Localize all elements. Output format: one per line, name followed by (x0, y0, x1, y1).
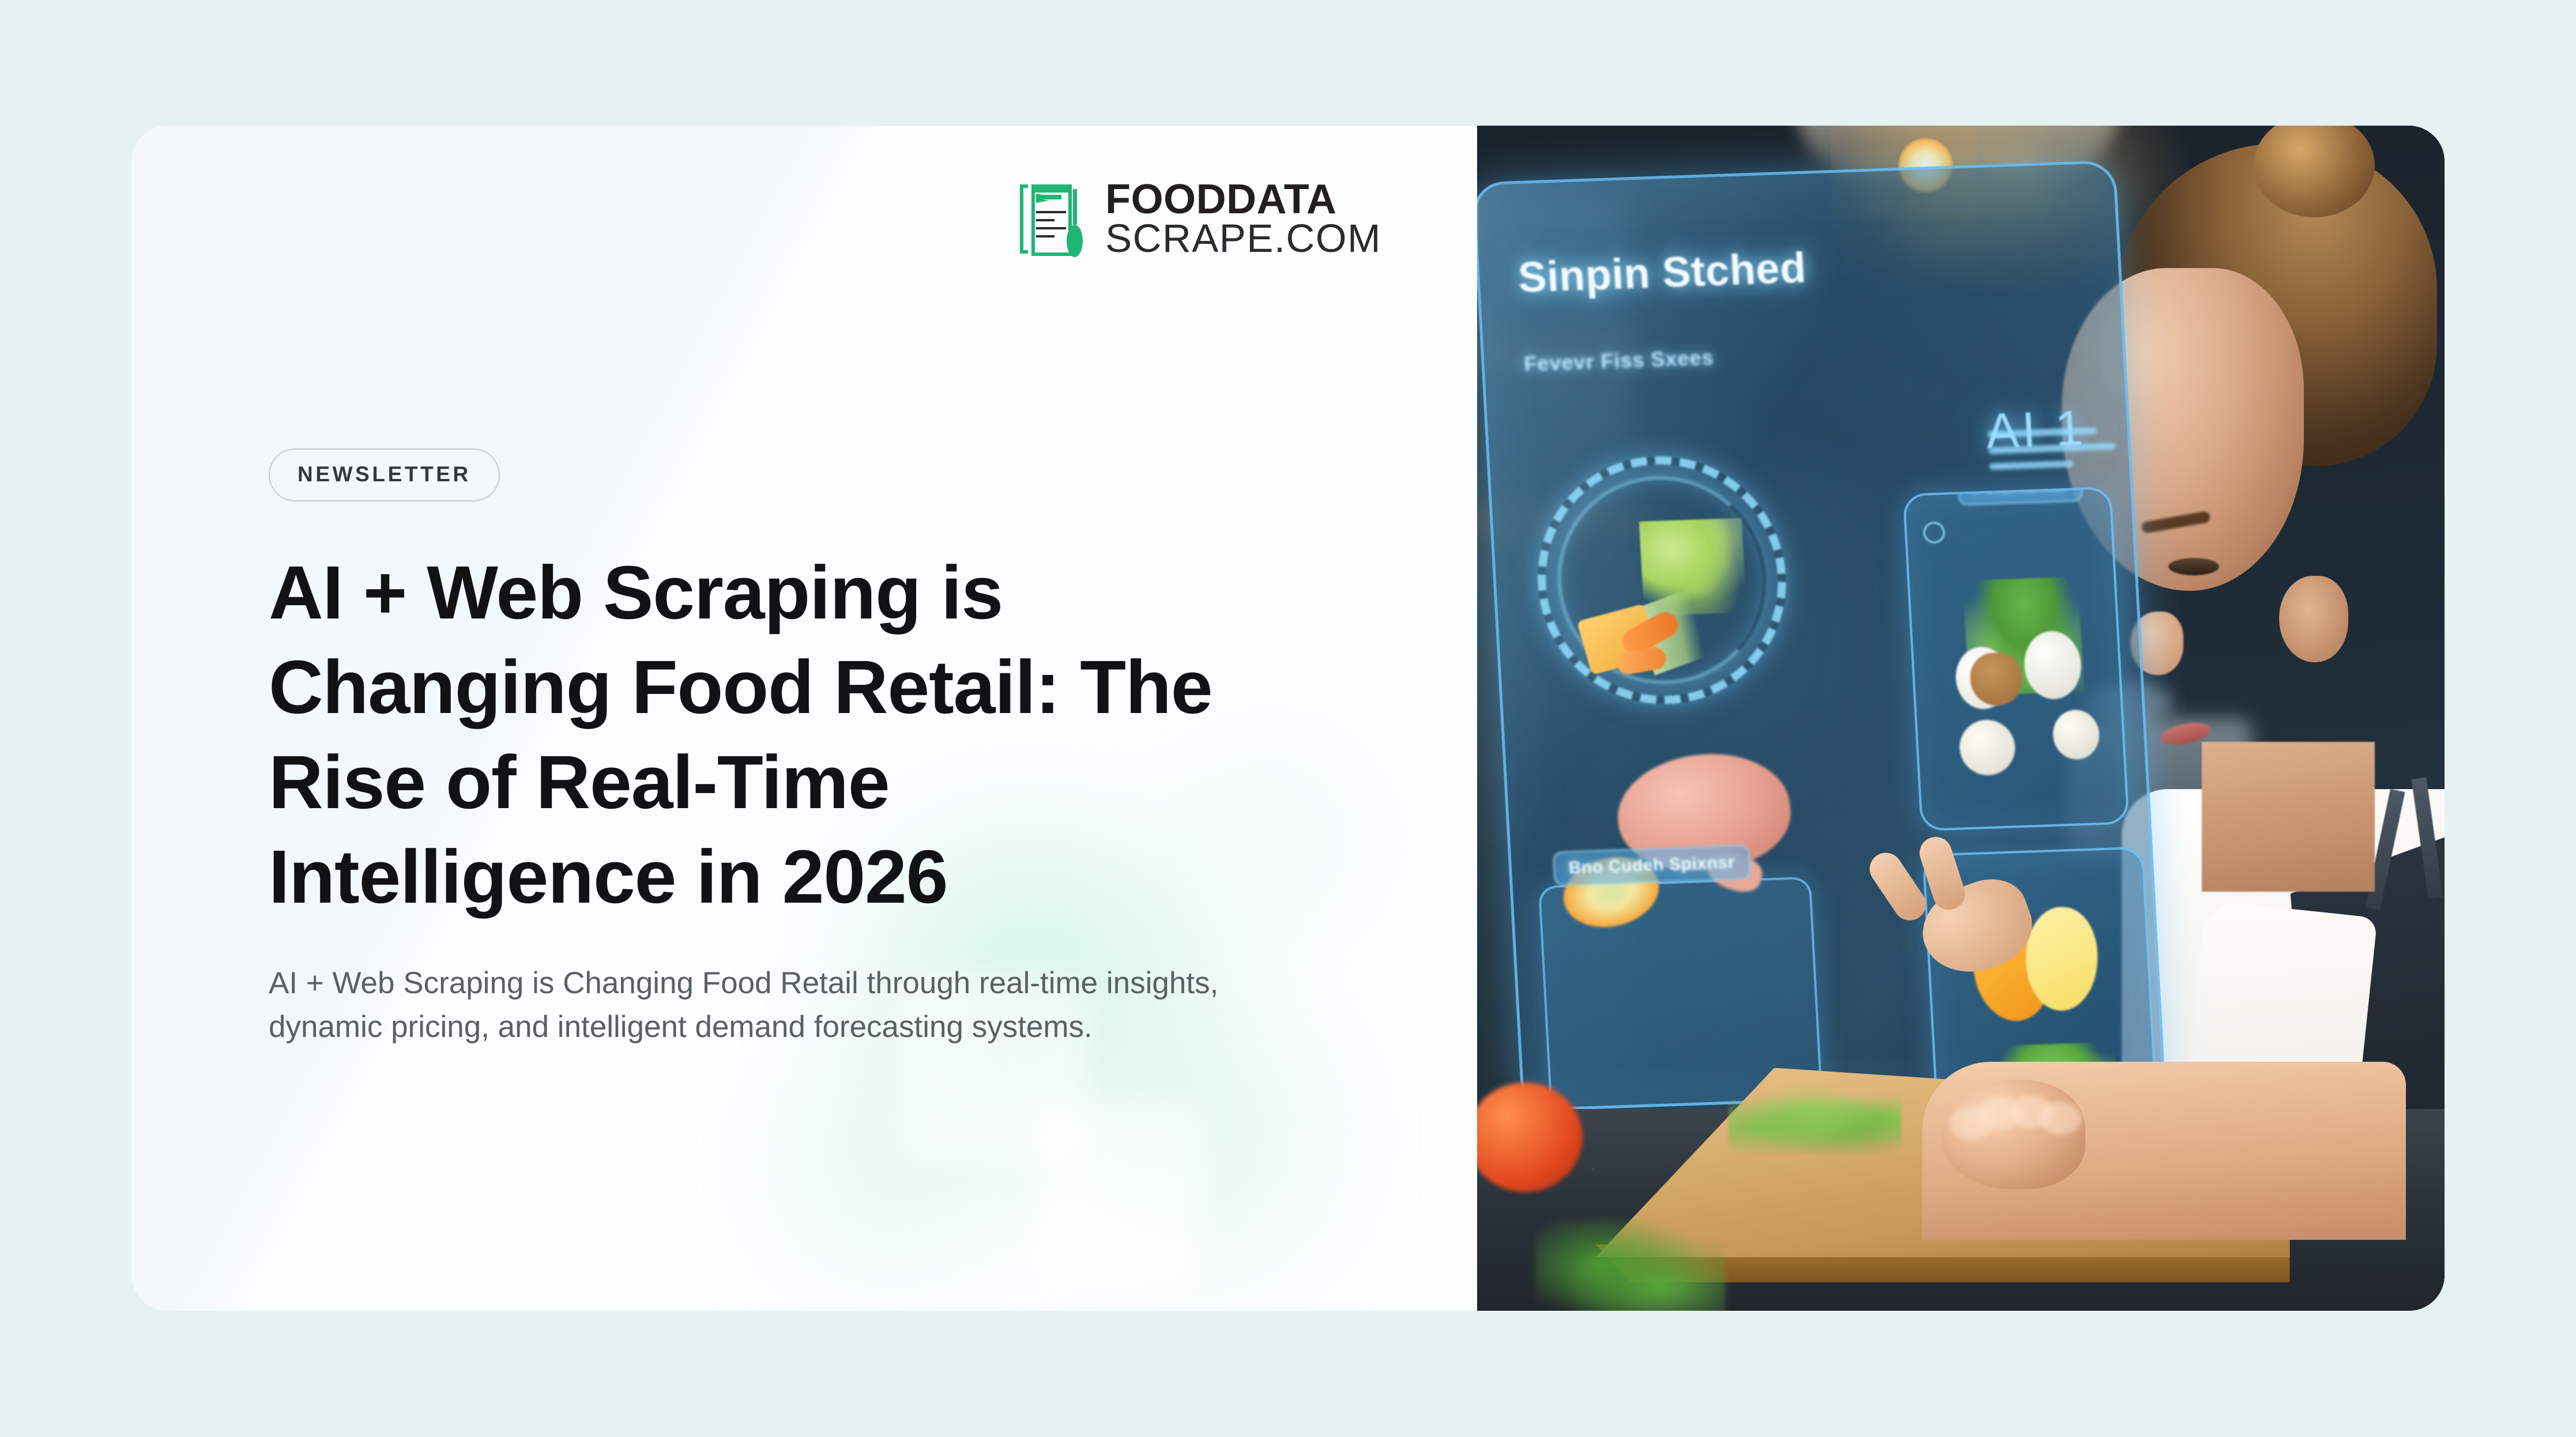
subcard-pill-label: Bno Cudeh Spixnsr (1552, 845, 1752, 887)
chopped-herbs (1728, 1085, 1901, 1155)
knuckle (2039, 1102, 2082, 1135)
logo-text-line1: FOODDATA (1105, 180, 1381, 220)
newsletter-card: FOODDATA SCRAPE.COM NEWSLETTER AI + Web … (131, 126, 2445, 1311)
chef-neck (2202, 742, 2375, 892)
holo-subcard-produce-1[interactable]: Fofariaritai Isnu Mremt Sra Sharmns (1902, 487, 2129, 831)
category-badge[interactable]: NEWSLETTER (269, 448, 500, 501)
parsley-foreground (1535, 1219, 1726, 1311)
meta-line (1989, 461, 2073, 470)
holographic-panel[interactable]: Sinpin Stched Fevevr Fiss Sxees AI 1 (1477, 160, 2166, 1111)
brand-logo[interactable]: FOODDATA SCRAPE.COM (1016, 180, 1381, 258)
page-title: AI + Web Scraping is Changing Food Retai… (269, 545, 1260, 925)
meta-line (1989, 443, 2116, 454)
ai-meta-lines (1987, 427, 2116, 480)
glow-square-2 (1031, 1100, 1204, 1290)
mozzarella-produce (2051, 710, 2100, 761)
progress-ring-widget[interactable] (1531, 452, 1792, 708)
left-content-panel: FOODDATA SCRAPE.COM NEWSLETTER AI + Web … (131, 126, 1477, 1311)
clipboard-fork-spoon-icon (1016, 181, 1090, 257)
chef-ear (2279, 576, 2348, 662)
content-column: NEWSLETTER AI + Web Scraping is Changing… (269, 448, 1283, 1050)
page-subtitle: AI + Web Scraping is Changing Food Retai… (269, 961, 1243, 1050)
hero-image: Sinpin Stched Fevevr Fiss Sxees AI 1 (1477, 126, 2445, 1311)
logo-text-line2: SCRAPE.COM (1105, 220, 1381, 258)
holo-panel-title: Sinpin Stched (1516, 243, 1807, 302)
camera-dot-icon (1922, 522, 1945, 544)
chef-hand-fist (1941, 1080, 2085, 1189)
mint-glow-3 (743, 1025, 1042, 1302)
mozzarella-produce (1958, 719, 2016, 776)
